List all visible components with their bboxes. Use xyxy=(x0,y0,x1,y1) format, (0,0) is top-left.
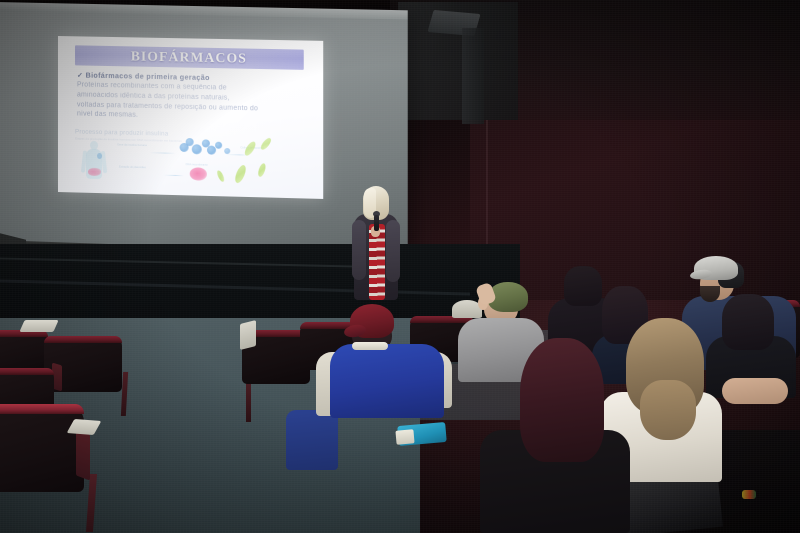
seat-leg-3 xyxy=(246,382,251,422)
diagram-arrow-3 xyxy=(163,175,183,177)
book-pages xyxy=(395,429,414,445)
presenter-sleeve-left xyxy=(352,220,366,280)
slide-title-bar: BIOFÁRMACOS xyxy=(75,45,304,70)
auditorium-photo: BIOFÁRMACOS ✓ Biofármacos de primeira ge… xyxy=(0,0,800,533)
attendee-hair xyxy=(722,294,774,350)
seat-tablet-arm-1 xyxy=(19,320,58,332)
seat-piping xyxy=(0,368,54,375)
human-body-icon xyxy=(81,141,107,188)
seat-armrest-2 xyxy=(76,429,90,480)
plasmid-dot-icon xyxy=(224,148,230,154)
pancreas-icon xyxy=(88,168,101,176)
bag-badge-icon xyxy=(742,490,756,499)
microphone-icon xyxy=(374,215,379,231)
bacterium-icon-4 xyxy=(216,170,226,183)
bacterium-icon-3 xyxy=(233,164,248,185)
seat-piping xyxy=(44,336,122,343)
diagram-arrow-1 xyxy=(149,152,175,154)
bacterium-icon-5 xyxy=(257,162,267,177)
blue-vest xyxy=(330,344,444,418)
collar xyxy=(352,342,388,350)
seat-empty-foreground xyxy=(0,404,84,492)
insulin-molecule-cluster-icon xyxy=(180,137,225,158)
slide-body: ✓ Biofármacos de primeira geração Proteí… xyxy=(77,70,308,124)
cell-icon xyxy=(190,167,207,181)
slide-diagram: Processo para produzir insulina Etapas d… xyxy=(75,128,308,194)
diagram-step-label-2: Extração do plasmídeo xyxy=(119,166,146,170)
attendee-hair-front xyxy=(640,380,696,440)
attendee-hair xyxy=(520,338,604,462)
attendee-hair xyxy=(564,266,602,306)
presenter-sleeve-right xyxy=(386,220,400,282)
attendee-arm xyxy=(722,378,788,404)
projected-slide: BIOFÁRMACOS ✓ Biofármacos de primeira ge… xyxy=(58,36,323,199)
attendee-jeans xyxy=(286,410,338,470)
body-organ-marker xyxy=(97,153,102,159)
seat-piping xyxy=(0,404,84,414)
slide-title: BIOFÁRMACOS xyxy=(131,48,247,66)
diagram-step-label-1: Gene da insulina humana xyxy=(117,143,147,147)
seat-tablet-arm-3 xyxy=(240,320,256,350)
ceiling-post xyxy=(462,28,484,124)
